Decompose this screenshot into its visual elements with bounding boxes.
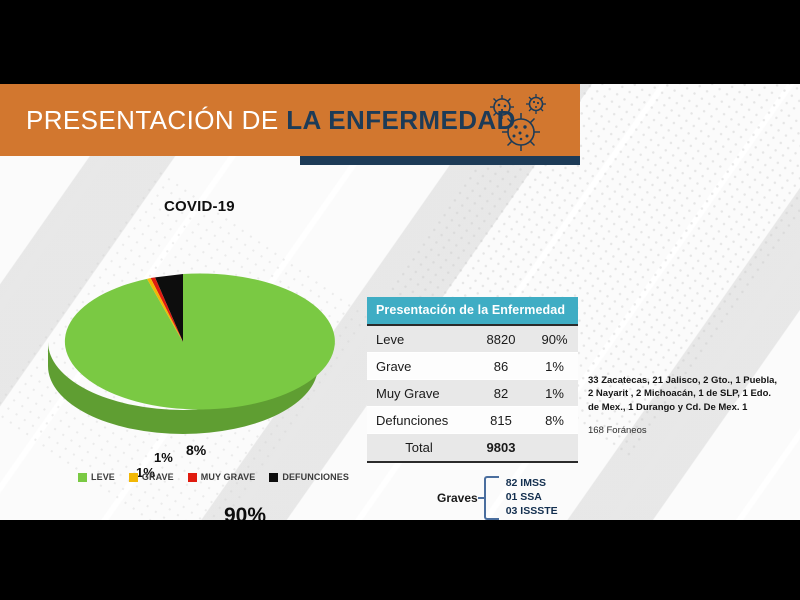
callout-graves-line-1: 82 IMSS [506,477,558,491]
table-row: Muy Grave 82 1% [367,380,578,407]
legend-swatch-muy-grave [188,473,197,482]
total-label: Total [367,440,471,455]
total-value: 9803 [471,440,531,455]
slide-canvas: PRESENTACIÓN DE LA ENFERMEDAD [0,84,800,520]
table-header: Presentación de la Enfermedad [367,297,578,326]
callout-graves-line-3: 03 ISSSTE [506,505,558,519]
legend-swatch-leve [78,473,87,482]
table-row: Grave 86 1% [367,353,578,380]
slide-viewer: PRESENTACIÓN DE LA ENFERMEDAD [0,0,800,600]
pie-label-leve: 90% [224,504,266,520]
callout-graves-lines: 82 IMSS 01 SSA 03 ISSSTE [506,477,558,519]
pie-label-muy-grave: 1% [154,450,173,465]
legend-item-defunciones: DEFUNCIONES [269,472,349,482]
header-banner: PRESENTACIÓN DE LA ENFERMEDAD [0,84,580,156]
title-light-part: PRESENTACIÓN DE [26,105,279,135]
states-line-3: de Mex., 1 Durango y Cd. De Mex. 1 [588,401,796,414]
row-label-defunciones: Defunciones [367,413,471,428]
letterbox-top [0,0,800,84]
legend-item-grave: GRAVE [129,472,174,482]
pie-label-defunciones: 8% [186,442,206,458]
row-count-leve: 8820 [471,332,531,347]
row-count-grave: 86 [471,359,531,374]
page-title: PRESENTACIÓN DE LA ENFERMEDAD [26,105,516,136]
virus-cluster-icon [484,92,556,152]
legend-swatch-grave [129,473,138,482]
title-bold-part: LA ENFERMEDAD [286,105,516,135]
legend-label-leve: LEVE [91,472,115,482]
row-percent-leve: 90% [531,332,578,347]
title-accent-bar [300,156,580,165]
row-count-muy-grave: 82 [471,386,531,401]
legend-label-defunciones: DEFUNCIONES [282,472,349,482]
pie-chart: 90% 8% 1% 1% [28,224,338,454]
states-breakdown-note: 33 Zacatecas, 21 Jalisco, 2 Gto., 1 Pueb… [588,374,796,414]
presentation-table: Presentación de la Enfermedad Leve 8820 … [367,297,578,463]
letterbox-bottom [0,520,800,600]
row-label-grave: Grave [367,359,471,374]
legend-label-grave: GRAVE [142,472,174,482]
row-percent-muy-grave: 1% [531,386,578,401]
legend-item-leve: LEVE [78,472,115,482]
callout-graves-line-2: 01 SSA [506,491,558,505]
row-label-muy-grave: Muy Grave [367,386,471,401]
row-percent-grave: 1% [531,359,578,374]
callout-graves-label: Graves [437,491,478,505]
row-label-leve: Leve [367,332,471,347]
callout-graves: Graves 82 IMSS 01 SSA 03 ISSSTE [437,476,558,520]
chart-title: COVID-19 [164,198,235,215]
row-count-defunciones: 815 [471,413,531,428]
legend-swatch-defunciones [269,473,278,482]
foraneos-note: 168 Foráneos [588,425,647,436]
legend-label-muy-grave: MUY GRAVE [201,472,256,482]
states-line-1: 33 Zacatecas, 21 Jalisco, 2 Gto., 1 Pueb… [588,374,796,387]
table-row: Defunciones 815 8% [367,407,578,434]
table-row: Leve 8820 90% [367,326,578,353]
table-total-row: Total 9803 [367,434,578,463]
pie-chart-svg [28,224,338,454]
states-line-2: 2 Nayarit , 2 Michoacán, 1 de SLP, 1 Edo… [588,387,796,400]
chart-legend: LEVE GRAVE MUY GRAVE DEFUNCIONES [78,472,349,482]
row-percent-defunciones: 8% [531,413,578,428]
brace-icon [484,476,499,520]
legend-item-muy-grave: MUY GRAVE [188,472,256,482]
